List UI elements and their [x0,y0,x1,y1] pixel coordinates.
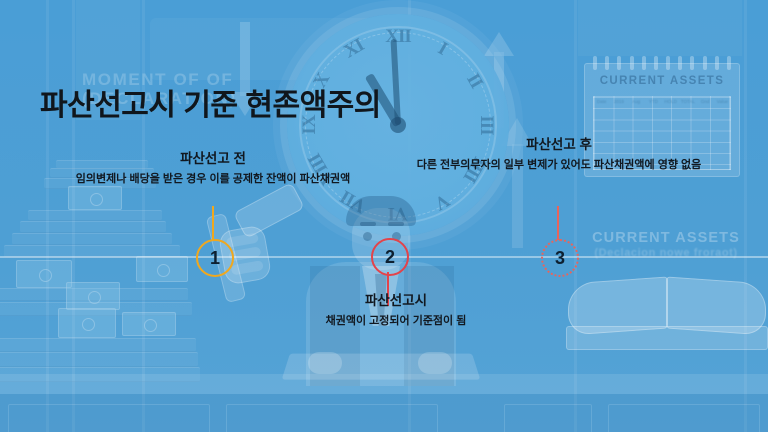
gavel-head-icon [233,182,305,239]
caption-before-declaration: 파산선고 전 임의변제나 배당을 받은 경우 이를 공제한 잔액이 파산채권액 [18,150,408,187]
caption-before-heading: 파산선고 전 [18,150,408,167]
timeline-stem-3 [557,206,559,240]
judge-brow [360,222,376,226]
book-page-right [666,277,766,336]
clock-rim [299,26,497,224]
clock-ticks [305,32,491,218]
wall-panel [578,0,742,56]
book-cover [566,326,768,350]
wall-seam [142,0,145,432]
wall-seam [744,0,747,432]
wall-seam [408,0,411,432]
timeline-node-2-label: 2 [385,247,395,268]
notepad-spiral-binding [593,56,731,70]
timeline-node-3[interactable]: 3 [541,239,579,277]
judge-hair [346,196,416,226]
current-assets-watermark: CURRENT ASSETS (Declacion nowe froraot) [586,230,746,259]
book-page-left [568,277,668,336]
judge-eye [363,232,372,241]
notepad-title: CURRENT ASSETS [585,75,739,87]
clock-numeral: I [434,38,451,60]
wall-seam [574,0,577,432]
desk-front [0,394,768,432]
clock-numeral: V [431,188,453,213]
clock-numeral: XII [385,26,411,48]
timeline-node-1[interactable]: 1 [196,239,234,277]
judge-illustration [300,196,462,386]
caption-after-declaration: 파산선고 후 다른 전부의무자의 일부 변제가 있어도 파산채권액에 영향 없음 [398,136,720,173]
wall-panel [150,18,400,80]
clock-center-pin [390,117,406,133]
clock-numeral: III [475,115,497,134]
money-stacks-illustration [0,160,204,380]
timeline-node-3-label: 3 [555,248,565,269]
clock-numeral: II [461,70,486,92]
wall-seam [72,0,75,432]
desk-surface [0,374,768,394]
background-illustration: MOMENT OF OF (DECLARATION) XIIIIIIIIIIII… [0,0,768,432]
slide-canvas: MOMENT OF OF (DECLARATION) XIIIIIIIIIIII… [0,0,768,432]
timeline-stem-1 [212,206,214,240]
open-book-illustration [566,276,768,350]
judge-brow [388,222,404,226]
arrow-up-right-icon [476,24,522,128]
clock-minute-hand [391,39,401,125]
watermark-assets-title: CURRENT ASSETS [586,230,746,246]
caption-before-body: 임의변제나 배당을 받은 경우 이를 공제한 잔액이 파산채권액 [18,172,408,187]
slide-title: 파산선고시 기준 현존액주의 [40,80,381,124]
caption-at-heading: 파산선고시 [282,292,510,309]
wall-clock-illustration: XIIIIIIIIIIIIVVIVIIVIIIIXXXI [287,14,509,236]
judge-desk [282,354,481,380]
caption-at-body: 채권액이 고정되어 기준점이 됨 [282,314,510,329]
caption-after-body: 다른 전부의무자의 일부 변제가 있어도 파산채권액에 영향 없음 [398,158,720,173]
caption-after-heading: 파산선고 후 [398,136,720,153]
wall-seam [46,0,49,432]
timeline-node-1-label: 1 [210,248,220,269]
clock-numeral: XI [340,34,368,63]
timeline-node-2[interactable]: 2 [371,238,409,276]
notepad-column-headers: Date2019AugYTDHOLDTOTALGndValue [593,96,731,107]
judge-hand-right [418,352,452,374]
clock-numeral: VII [337,185,370,217]
judge-hand-left [308,352,342,374]
clock-numeral: VI [388,202,407,224]
caption-at-declaration: 파산선고시 채권액이 고정되어 기준점이 됨 [282,292,510,329]
